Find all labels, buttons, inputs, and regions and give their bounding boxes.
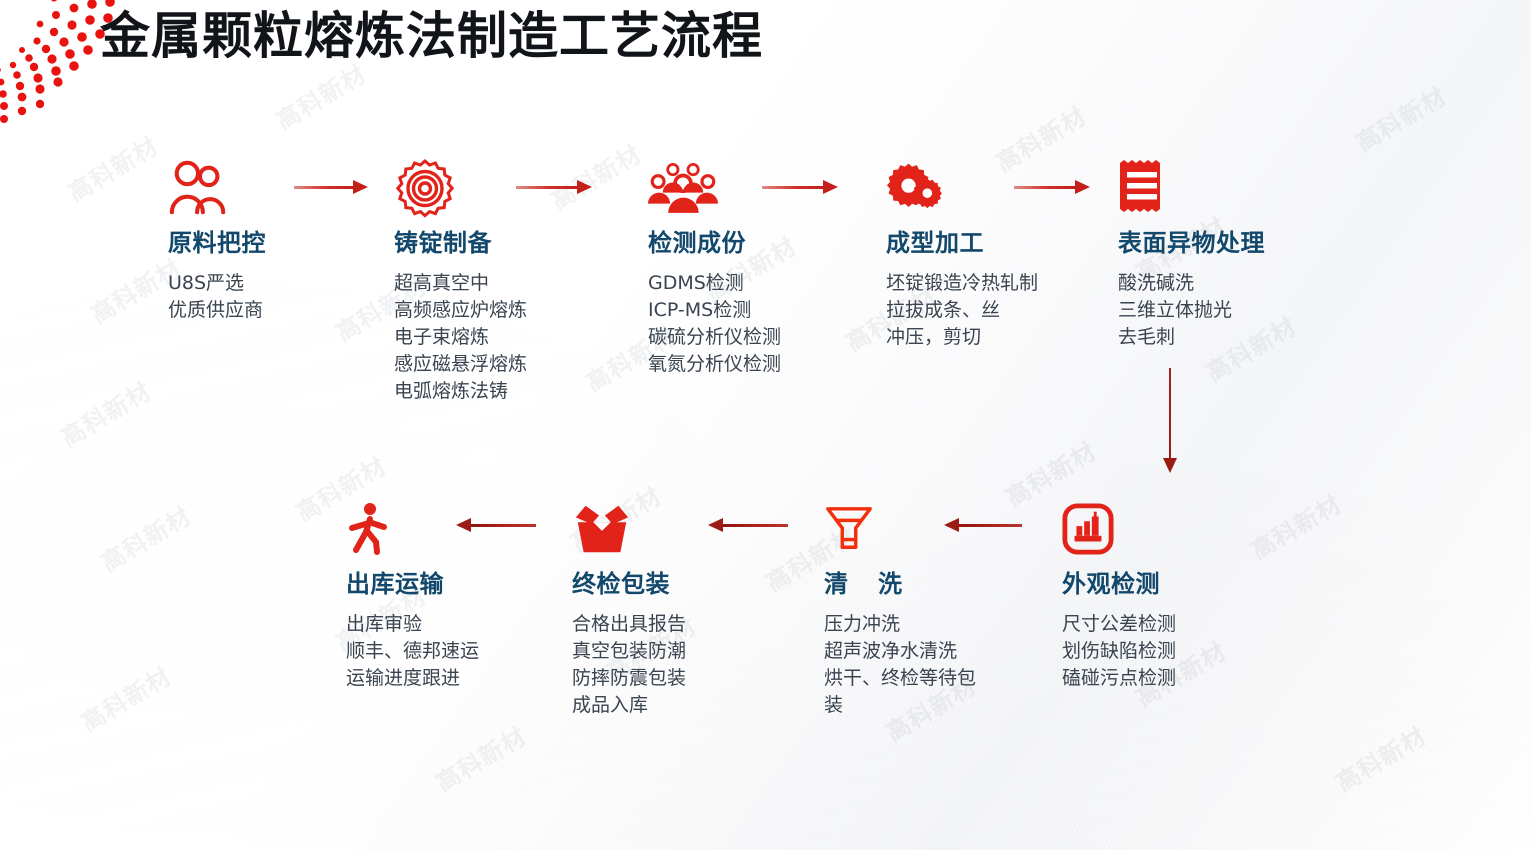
step-detail-line: 优质供应商 [168,297,266,324]
arrow-shaft [294,186,354,189]
step-detail-line: 顺丰、德邦速运 [346,638,479,665]
step-detail-line: 拉拔成条、丝 [886,297,1038,324]
watermark-text: 高科新材 [93,497,197,579]
step-detail-line: 坯锭锻造冷热轧制 [886,270,1038,297]
flow-step-9[interactable]: 出库运输 出库审验 顺丰、德邦速运 运输进度跟进 [346,498,479,692]
arrow-head [823,180,838,194]
two-people-icon [168,157,230,219]
flow-step-3[interactable]: 检测成份 GDMS检测 ICP-MS检测 碳硫分析仪检测 氧氮分析仪检测 [648,157,781,378]
people-group-icon [648,157,718,219]
step-detail-list: 出库审验 顺丰、德邦速运 运输进度跟进 [346,611,479,692]
arrow-step1-to-step2 [294,180,368,194]
step-title: 终检包装 [572,564,686,599]
step-detail-line: 碳硫分析仪检测 [648,324,781,351]
background-hatch-pattern-secondary [0,0,1531,850]
factory-badge-icon [1062,498,1114,560]
gear-target-icon [394,157,456,219]
step-detail-line: 超声波净水清洗 [824,638,980,665]
watermark-text: 高科新材 [1328,717,1432,799]
step-title: 清 洗 [824,564,992,599]
watermark-text: 高科新材 [60,127,164,209]
step-detail-list: 压力冲洗 超声波净水清洗 烘干、终检等待包装 [824,611,980,719]
background-hatch-pattern [0,0,1531,850]
flow-step-2[interactable]: 铸锭制备 超高真空中 高频感应炉熔炼 电子束熔炼 感应磁悬浮熔炼 电弧熔炼法铸 [394,157,527,405]
step-title: 出库运输 [346,564,479,599]
step-detail-line: 压力冲洗 [824,611,980,638]
slide-canvas: 高科新材高科新材高科新材高科新材高科新材高科新材高科新材高科新材高科新材高科新材… [0,0,1531,850]
step-detail-list: 合格出具报告 真空包装防潮 防摔防震包装 成品入库 [572,611,686,719]
step-title: 铸锭制备 [394,223,527,258]
step-detail-line: 电弧熔炼法铸 [394,378,527,405]
arrow-head [353,180,368,194]
arrow-step7-to-step8 [708,518,788,532]
step-detail-line: 氧氮分析仪检测 [648,351,781,378]
step-detail-line: 真空包装防潮 [572,638,686,665]
step-detail-line: 防摔防震包装 [572,665,686,692]
flow-step-8[interactable]: 终检包装 合格出具报告 真空包装防潮 防摔防震包装 成品入库 [572,498,686,719]
arrow-shaft [470,524,536,527]
page-title: 金属颗粒熔炼法制造工艺流程 [100,2,763,70]
slide-header: 金属颗粒熔炼法制造工艺流程 [0,0,1531,96]
arrow-head [708,518,723,532]
background-swoosh-1 [0,28,1531,850]
flow-step-6[interactable]: 外观检测 尺寸公差检测 划伤缺陷检测 磕碰污点检测 [1062,498,1176,692]
flow-step-7[interactable]: 清 洗 压力冲洗 超声波净水清洗 烘干、终检等待包装 [824,498,992,719]
document-ticket-icon [1118,157,1166,219]
arrow-head [1075,180,1090,194]
step-detail-list: 酸洗碱洗 三维立体抛光 去毛刺 [1118,270,1265,351]
step-title: 成型加工 [886,223,1038,258]
flow-step-1[interactable]: 原料把控 U8S严选 优质供应商 [168,157,266,324]
step-detail-line: 尺寸公差检测 [1062,611,1176,638]
flow-step-5[interactable]: 表面异物处理 酸洗碱洗 三维立体抛光 去毛刺 [1118,157,1265,351]
step-detail-line: 出库审验 [346,611,479,638]
open-box-icon [572,498,632,560]
step-detail-line: 去毛刺 [1118,324,1265,351]
step-detail-line: 酸洗碱洗 [1118,270,1265,297]
step-detail-line: 成品入库 [572,692,686,719]
step-detail-line: 磕碰污点检测 [1062,665,1176,692]
watermark-text: 高科新材 [428,717,532,799]
step-title: 表面异物处理 [1118,223,1265,258]
step-detail-line: 合格出具报告 [572,611,686,638]
step-detail-line: 冲压，剪切 [886,324,1038,351]
step-detail-line: 超高真空中 [394,270,527,297]
step-detail-line: 划伤缺陷检测 [1062,638,1176,665]
step-detail-list: 超高真空中 高频感应炉熔炼 电子束熔炼 感应磁悬浮熔炼 电弧熔炼法铸 [394,270,527,405]
arrow-step5-to-step6 [1163,368,1177,473]
step-detail-list: 坯锭锻造冷热轧制 拉拔成条、丝 冲压，剪切 [886,270,1038,351]
step-title: 外观检测 [1062,564,1176,599]
background-swoosh-2 [51,100,1531,850]
watermark-text: 高科新材 [73,657,177,739]
step-detail-list: U8S严选 优质供应商 [168,270,266,324]
step-detail-line: 高频感应炉熔炼 [394,297,527,324]
step-title: 检测成份 [648,223,781,258]
flow-step-4[interactable]: 成型加工 坯锭锻造冷热轧制 拉拔成条、丝 冲压，剪切 [886,157,1038,351]
arrow-head [1163,458,1177,473]
step-title: 原料把控 [168,223,266,258]
arrow-shaft [722,524,788,527]
watermark-text: 高科新材 [1243,485,1347,567]
step-detail-list: 尺寸公差检测 划伤缺陷检测 磕碰污点检测 [1062,611,1176,692]
step-detail-line: 三维立体抛光 [1118,297,1265,324]
step-detail-line: ICP-MS检测 [648,297,781,324]
two-gears-icon [886,157,948,219]
arrow-step2-to-step3 [516,180,592,194]
step-detail-list: GDMS检测 ICP-MS检测 碳硫分析仪检测 氧氮分析仪检测 [648,270,781,378]
step-detail-line: 烘干、终检等待包装 [824,665,980,719]
step-detail-line: 感应磁悬浮熔炼 [394,351,527,378]
walking-person-icon [346,498,392,560]
watermark-text: 高科新材 [543,135,647,217]
watermark-text: 高科新材 [53,372,157,454]
funnel-icon [824,498,874,560]
step-detail-line: GDMS检测 [648,270,781,297]
arrow-head [577,180,592,194]
step-detail-line: 运输进度跟进 [346,665,479,692]
step-detail-line: 电子束熔炼 [394,324,527,351]
step-detail-line: U8S严选 [168,270,266,297]
arrow-shaft [1169,368,1171,459]
